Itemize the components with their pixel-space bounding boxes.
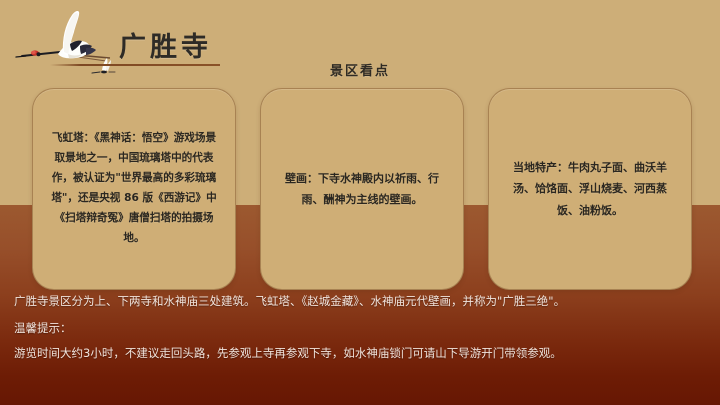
highlight-cards: 飞虹塔：《黑神话：悟空》游戏场景取景地之一，中国琉璃塔中的代表作，被认证为"世界… [32,88,692,290]
card-text: 当地特产：牛肉丸子面、曲沃羊汤、饸饹面、浮山烧麦、河西蒸饭、油粉饭。 [503,157,677,220]
summary-line: 广胜寺景区分为上、下两寺和水神庙三处建筑。飞虹塔、《赵城金藏》、水神庙元代壁画，… [14,296,714,308]
tip-label: 温馨提示： [14,323,714,335]
brand-title: 广胜寺 [119,25,212,64]
card-local-specialties: 当地特产：牛肉丸子面、曲沃羊汤、饸饹面、浮山烧麦、河西蒸饭、油粉饭。 [488,88,692,290]
card-text: 壁画：下寺水神殿内以祈雨、行雨、酬神为主线的壁画。 [275,168,449,210]
tip-text: 游览时间大约3小时，不建议走回头路，先参观上寺再参观下寺，如水神庙锁门可请山下导… [14,348,714,360]
bottom-text-block: 广胜寺景区分为上、下两寺和水神庙三处建筑。飞虹塔、《赵城金藏》、水神庙元代壁画，… [14,296,714,360]
card-text: 飞虹塔：《黑神话：悟空》游戏场景取景地之一，中国琉璃塔中的代表作，被认证为"世界… [47,129,221,248]
card-feihong-pagoda: 飞虹塔：《黑神话：悟空》游戏场景取景地之一，中国琉璃塔中的代表作，被认证为"世界… [32,88,236,290]
card-murals: 壁画：下寺水神殿内以祈雨、行雨、酬神为主线的壁画。 [260,88,464,290]
slide-root: 广胜寺 景区看点 飞虹塔：《黑神话：悟空》游戏场景取景地之一，中国琉璃塔中的代表… [0,0,720,405]
section-heading: 景区看点 [0,60,720,79]
